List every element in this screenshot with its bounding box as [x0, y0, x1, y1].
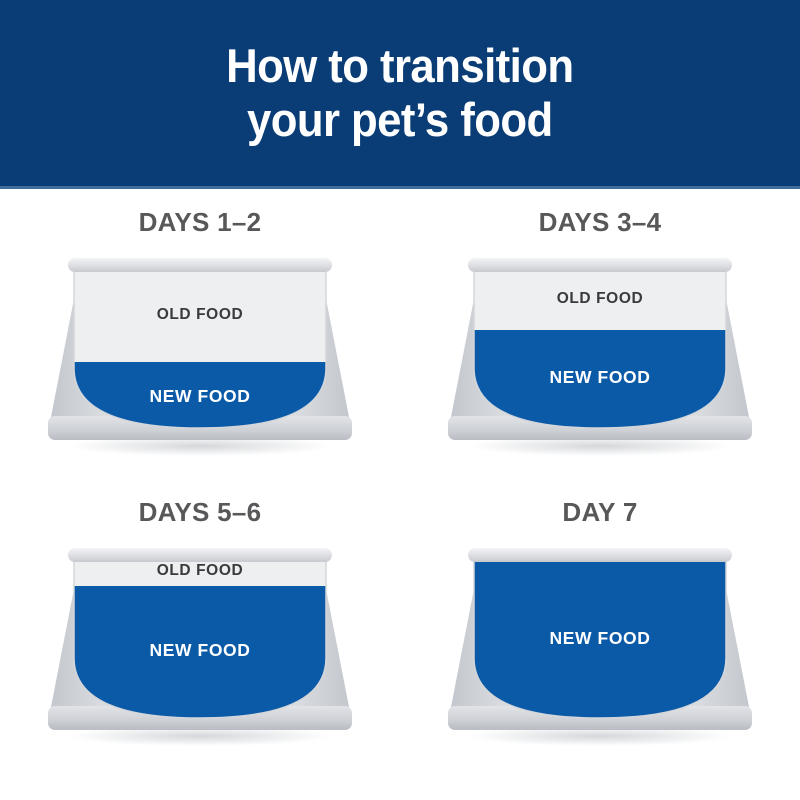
page-title: How to transition your pet’s food [189, 39, 611, 146]
step-title: DAY 7 [562, 497, 637, 528]
step-days-1-2: DAYS 1–2 [0, 189, 400, 479]
header-banner: How to transition your pet’s food [0, 0, 800, 186]
food-bowl-days-3-4: OLD FOOD NEW FOOD [440, 250, 760, 460]
step-title: DAYS 1–2 [139, 207, 262, 238]
step-days-5-6: DAYS 5–6 [0, 479, 400, 769]
bowl-rim [468, 548, 732, 562]
step-title: DAYS 5–6 [139, 497, 262, 528]
page-title-line-2: your pet’s food [226, 93, 573, 147]
food-bowl-day-7: NEW FOOD [440, 540, 760, 750]
bowl-illustration [440, 540, 760, 750]
step-days-3-4: DAYS 3–4 [400, 189, 800, 479]
bowl-rim [468, 258, 732, 272]
step-title: DAYS 3–4 [539, 207, 662, 238]
page-title-line-1: How to transition [226, 39, 573, 93]
food-bowl-days-1-2: OLD FOOD NEW FOOD [40, 250, 360, 460]
step-day-7: DAY 7 [400, 479, 800, 769]
bowl-illustration [40, 540, 360, 750]
bowl-rim [68, 258, 332, 272]
food-bowl-days-5-6: OLD FOOD NEW FOOD [40, 540, 360, 750]
transition-steps-grid: DAYS 1–2 [0, 189, 800, 800]
bowl-rim [68, 548, 332, 562]
bowl-illustration [440, 250, 760, 460]
bowl-illustration [40, 250, 360, 460]
infographic-page: How to transition your pet’s food DAYS 1… [0, 0, 800, 800]
